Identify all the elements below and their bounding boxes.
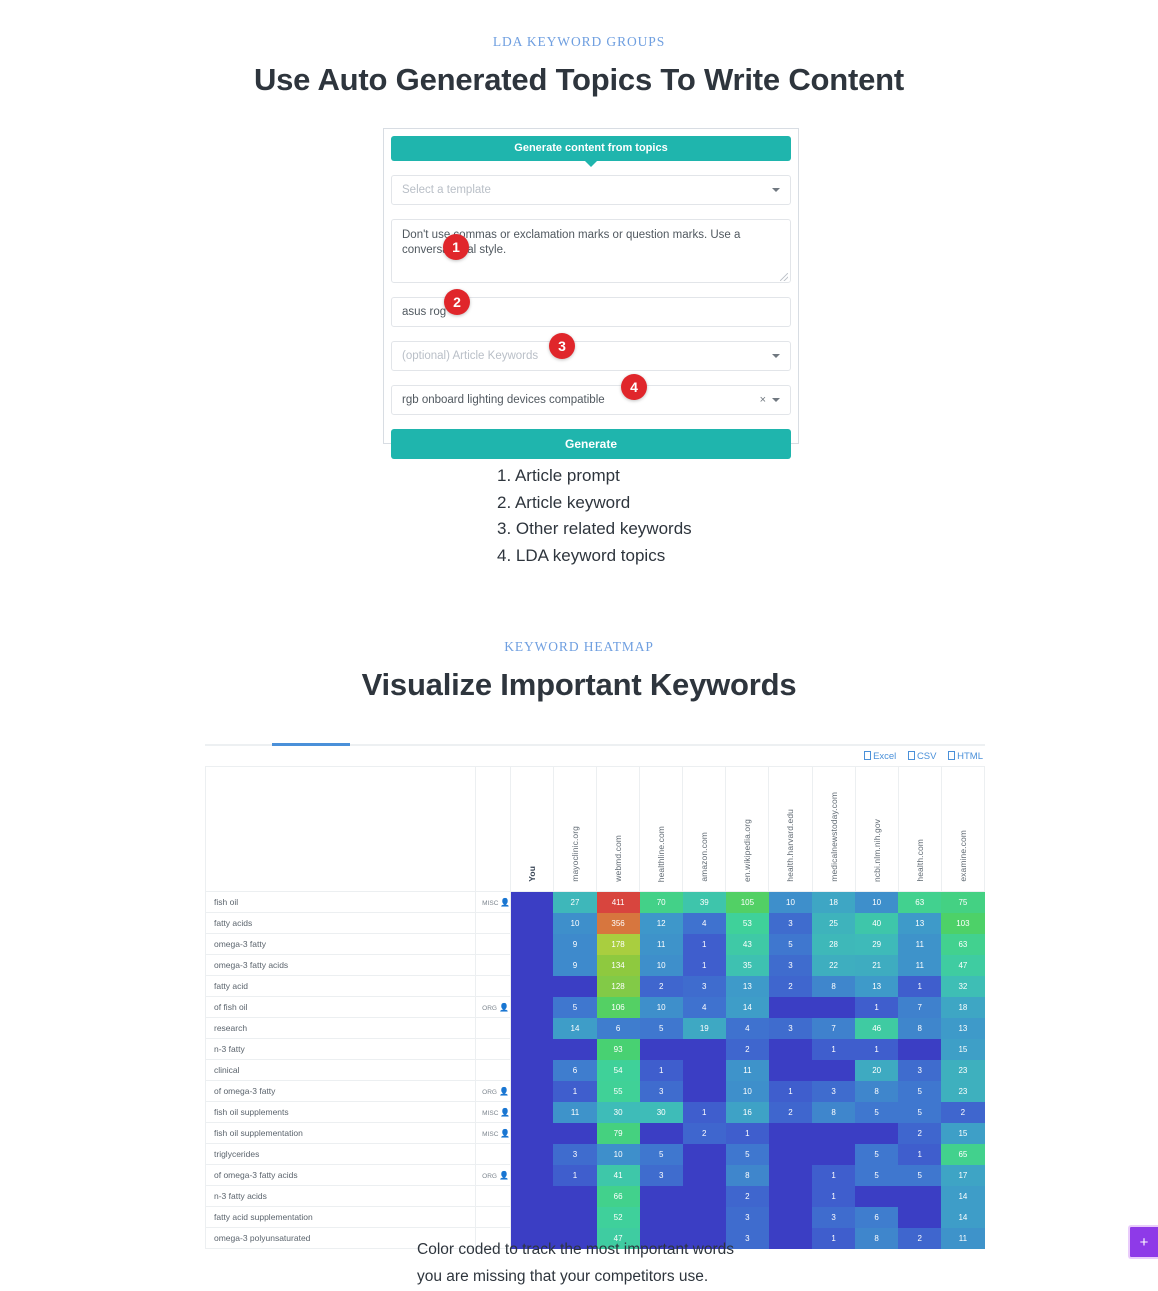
heatmap-cell[interactable]: 11 [726,1060,769,1081]
heatmap-cell[interactable]: 2 [898,1228,941,1249]
heatmap-cell[interactable] [640,1186,683,1207]
heatmap-cell[interactable]: 15 [941,1039,984,1060]
heatmap-cell[interactable] [769,1207,812,1228]
heatmap-row-keyword: of omega-3 fatty [206,1081,476,1102]
heatmap-cell[interactable] [812,1144,855,1165]
card-header: Generate content from topics [391,136,791,161]
export-excel-label: Excel [873,751,896,762]
heatmap-cell[interactable] [640,1207,683,1228]
heatmap-cell[interactable]: 63 [898,892,941,913]
heatmap-row-keyword: omega-3 fatty acids [206,955,476,976]
heatmap-cell[interactable]: 11 [941,1228,984,1249]
heatmap-cell[interactable]: 4 [683,913,726,934]
table-row[interactable]: n-3 fatty acids662114 [206,1186,985,1207]
heatmap-cell[interactable]: 14 [941,1207,984,1228]
heatmap-row-tag [476,1018,511,1039]
heatmap-cell[interactable]: 9 [553,955,596,976]
table-row[interactable]: research14651943746813 [206,1018,985,1039]
heatmap-row-keyword: research [206,1018,476,1039]
list-item: 3. Other related keywords [497,516,692,543]
keyword-heatmap-table: Youmayoclinic.orgwebmd.comhealthline.com… [205,766,985,1249]
heatmap-cell[interactable]: 39 [683,892,726,913]
heatmap-row-keyword: n-3 fatty [206,1039,476,1060]
heatmap-cell[interactable]: 11 [898,955,941,976]
heatmap-cell[interactable]: 35 [726,955,769,976]
heatmap-cell[interactable] [510,955,553,976]
heatmap-cell[interactable]: 54 [597,1060,640,1081]
lda-topic-value: rgb onboard lighting devices compatible [402,394,605,406]
generate-content-card: Generate content from topics Select a te… [383,128,799,444]
heatmap-column-label: health.com [915,839,925,882]
heatmap-cell[interactable] [769,1060,812,1081]
heatmap-cell[interactable]: 2 [898,1123,941,1144]
heatmap-cell[interactable]: 13 [726,976,769,997]
heatmap-cell[interactable]: 8 [855,1081,898,1102]
add-floating-button[interactable]: + [1128,1225,1158,1259]
heatmap-cell[interactable]: 6 [553,1060,596,1081]
heatmap-column-header[interactable]: webmd.com [597,767,640,892]
heatmap-row-tag: MISC👤 [476,1102,511,1123]
heatmap-cell[interactable] [510,913,553,934]
heatmap-cell[interactable]: 3 [769,955,812,976]
heatmap-cell[interactable]: 10 [553,913,596,934]
heatmap-cell[interactable] [640,1123,683,1144]
heatmap-cell[interactable]: 8 [726,1165,769,1186]
heatmap-cell[interactable]: 2 [769,1102,812,1123]
heatmap-cell[interactable]: 11 [553,1102,596,1123]
heatmap-cell[interactable]: 2 [640,976,683,997]
heatmap-cell[interactable]: 1 [640,1060,683,1081]
annotation-badge-2: 2 [444,289,470,315]
heatmap-cell[interactable]: 13 [855,976,898,997]
heatmap-cell[interactable]: 1 [683,1102,726,1123]
heatmap-cell[interactable]: 14 [553,1018,596,1039]
heatmap-row-tag [476,1060,511,1081]
heatmap-cell[interactable]: 3 [640,1165,683,1186]
topics-section-header: LDA KEYWORD GROUPS Use Auto Generated To… [0,34,1158,98]
heatmap-cell[interactable] [510,934,553,955]
heatmap-cell[interactable] [683,1144,726,1165]
heatmap-cell[interactable]: 2 [726,1039,769,1060]
heatmap-cell[interactable]: 18 [812,892,855,913]
heatmap-column-label: webmd.com [613,835,623,882]
heatmap-cell[interactable] [510,892,553,913]
heatmap-column-header[interactable]: medicalnewstoday.com [812,767,855,892]
person-icon: 👤 [499,1003,509,1012]
heatmap-cell[interactable]: 11 [898,934,941,955]
heatmap-cell[interactable] [510,1123,553,1144]
heatmap-cell[interactable]: 10 [726,1081,769,1102]
keyword-heatmap-panel: Excel CSV HTML Youmayoclinic.orgwebmd.co… [205,732,985,1249]
heatmap-cell[interactable] [510,1039,553,1060]
heatmap-row-tag: ORG👤 [476,1081,511,1102]
heatmap-cell[interactable]: 3 [769,1018,812,1039]
heatmap-cell[interactable]: 8 [812,976,855,997]
heatmap-cell[interactable] [510,1165,553,1186]
export-html-label: HTML [957,751,983,762]
heatmap-cell[interactable]: 10 [855,892,898,913]
heatmap-cell[interactable]: 5 [553,997,596,1018]
annotation-legend-list: 1. Article prompt 2. Article keyword 3. … [497,463,692,569]
heatmap-cell[interactable]: 29 [855,934,898,955]
heatmap-cell[interactable]: 2 [769,976,812,997]
table-row[interactable]: omega-3 fatty917811143528291163 [206,934,985,955]
article-keywords-select[interactable]: (optional) Article Keywords [391,341,791,371]
heatmap-row-tag [476,955,511,976]
heatmap-cell[interactable]: 93 [597,1039,640,1060]
heatmap-cell[interactable]: 356 [597,913,640,934]
heatmap-column-header[interactable]: health.harvard.edu [769,767,812,892]
heatmap-cell[interactable] [510,976,553,997]
export-html-button[interactable]: HTML [948,751,983,762]
heatmap-column-header[interactable]: en.wikipedia.org [726,767,769,892]
heatmap-cell[interactable] [510,1081,553,1102]
heatmap-cell[interactable]: 65 [941,1144,984,1165]
heatmap-cell[interactable]: 5 [640,1018,683,1039]
heatmap-row-tag: ORG👤 [476,997,511,1018]
heatmap-cell[interactable]: 10 [769,892,812,913]
heatmap-row-keyword: fish oil supplementation [206,1123,476,1144]
heatmap-cell[interactable]: 79 [597,1123,640,1144]
table-row[interactable]: clinical65411120323 [206,1060,985,1081]
heatmap-cell[interactable]: 5 [640,1144,683,1165]
heatmap-cell[interactable]: 66 [597,1186,640,1207]
heatmap-cell[interactable]: 2 [726,1186,769,1207]
person-icon: 👤 [500,1129,510,1138]
heatmap-cell[interactable] [510,1060,553,1081]
heatmap-cell[interactable]: 8 [898,1018,941,1039]
heatmap-cell[interactable]: 106 [597,997,640,1018]
heatmap-cell[interactable] [898,1186,941,1207]
heatmap-cell[interactable]: 1 [683,955,726,976]
heatmap-cell[interactable]: 6 [855,1207,898,1228]
close-icon[interactable]: × [760,394,766,406]
heatmap-cell[interactable]: 23 [941,1060,984,1081]
heatmap-cell[interactable]: 5 [855,1102,898,1123]
heatmap-cell[interactable] [553,1123,596,1144]
heatmap-header-row: Youmayoclinic.orgwebmd.comhealthline.com… [206,767,985,892]
heatmap-cell[interactable]: 5 [726,1144,769,1165]
heatmap-cell[interactable]: 40 [855,913,898,934]
heatmap-cell[interactable]: 10 [597,1144,640,1165]
heatmap-cell[interactable]: 1 [812,1228,855,1249]
heatmap-cell[interactable]: 41 [597,1165,640,1186]
heatmap-cell[interactable]: 8 [812,1102,855,1123]
heatmap-cell[interactable]: 2 [941,1102,984,1123]
export-csv-button[interactable]: CSV [908,751,937,762]
heatmap-row-keyword: fatty acid supplementation [206,1207,476,1228]
heatmap-cell[interactable]: 15 [941,1123,984,1144]
table-row[interactable]: triglycerides310555165 [206,1144,985,1165]
heatmap-cell[interactable] [683,1060,726,1081]
heatmap-cell[interactable] [683,1207,726,1228]
heatmap-cell[interactable]: 13 [941,1018,984,1039]
heatmap-row-tag [476,934,511,955]
heatmap-cell[interactable]: 1 [553,1081,596,1102]
heatmap-cell[interactable]: 27 [553,892,596,913]
heatmap-cell[interactable]: 25 [812,913,855,934]
heatmap-cell[interactable]: 3 [553,1144,596,1165]
annotation-badge-4: 4 [621,374,647,400]
heatmap-cell[interactable]: 11 [640,934,683,955]
article-keyword-value: asus rog [402,306,446,318]
heatmap-cell[interactable]: 53 [726,913,769,934]
table-row[interactable]: fatty acid supplementation5233614 [206,1207,985,1228]
heatmap-cell[interactable]: 63 [941,934,984,955]
heatmap-title: Visualize Important Keywords [0,667,1158,703]
heatmap-cell[interactable]: 6 [597,1018,640,1039]
table-row[interactable]: fish oil supplementationMISC👤7921215 [206,1123,985,1144]
heatmap-cell[interactable]: 178 [597,934,640,955]
file-icon [948,751,955,760]
heatmap-cell[interactable] [510,1186,553,1207]
heatmap-row-tag: MISC👤 [476,892,511,913]
heatmap-cell[interactable] [812,1123,855,1144]
heatmap-cell[interactable]: 5 [898,1081,941,1102]
heatmap-row-keyword: clinical [206,1060,476,1081]
heatmap-cell[interactable] [769,1186,812,1207]
heatmap-row-keyword: fish oil [206,892,476,913]
resize-handle-icon[interactable] [780,273,788,281]
heatmap-cell[interactable] [640,1039,683,1060]
heatmap-cell[interactable]: 3 [726,1207,769,1228]
heatmap-cell[interactable] [683,1081,726,1102]
heatmap-cell[interactable]: 30 [640,1102,683,1123]
heatmap-cell[interactable]: 1 [726,1123,769,1144]
heatmap-cell[interactable]: 1 [683,934,726,955]
heatmap-cell[interactable]: 1 [769,1081,812,1102]
heatmap-cell[interactable] [855,1186,898,1207]
heatmap-cell[interactable]: 5 [855,1144,898,1165]
heatmap-cell[interactable]: 70 [640,892,683,913]
tab-active-indicator[interactable] [272,743,350,746]
heatmap-cell[interactable]: 1 [855,997,898,1018]
heatmap-column-label: mayoclinic.org [570,826,580,882]
table-row[interactable]: of fish oilORG👤5106104141718 [206,997,985,1018]
heatmap-cell[interactable]: 1 [898,976,941,997]
heatmap-cell[interactable] [553,1186,596,1207]
heatmap-tag-corner-cell [476,767,511,892]
heatmap-cell[interactable]: 3 [812,1207,855,1228]
heatmap-cell[interactable]: 2 [683,1123,726,1144]
heatmap-row-keyword: fish oil supplements [206,1102,476,1123]
heatmap-row-tag [476,913,511,934]
file-icon [864,751,871,760]
heatmap-cell[interactable]: 4 [726,1018,769,1039]
export-toolbar: Excel CSV HTML [205,746,985,766]
heatmap-column-label: You [527,866,537,882]
entity-tag-label: MISC [482,1110,498,1117]
heatmap-cell[interactable]: 411 [597,892,640,913]
heatmap-cell[interactable] [855,1123,898,1144]
caption-line-1: Color coded to track the most important … [417,1236,734,1263]
heatmap-cell[interactable] [898,1039,941,1060]
heatmap-cell[interactable]: 1 [898,1144,941,1165]
heatmap-cell[interactable]: 20 [855,1060,898,1081]
heatmap-cell[interactable]: 7 [898,997,941,1018]
heatmap-cell[interactable]: 9 [553,934,596,955]
heatmap-cell[interactable]: 46 [855,1018,898,1039]
heatmap-cell[interactable] [769,1228,812,1249]
heatmap-cell[interactable]: 10 [640,997,683,1018]
heatmap-cell[interactable]: 105 [726,892,769,913]
heatmap-cell[interactable]: 103 [941,913,984,934]
heatmap-column-header[interactable]: ncbi.nlm.nih.gov [855,767,898,892]
heatmap-cell[interactable]: 3 [812,1081,855,1102]
heatmap-cell[interactable] [683,1186,726,1207]
heatmap-cell[interactable]: 75 [941,892,984,913]
heatmap-cell[interactable]: 1 [812,1186,855,1207]
lda-topic-select[interactable]: rgb onboard lighting devices compatible … [391,385,791,415]
heatmap-cell[interactable]: 32 [941,976,984,997]
table-row[interactable]: fish oil supplementsMISC👤11303011628552 [206,1102,985,1123]
heatmap-row-tag: ORG👤 [476,1165,511,1186]
generate-button[interactable]: Generate [391,429,791,459]
heatmap-column-label: medicalnewstoday.com [829,792,839,882]
heatmap-body: fish oilMISC👤2741170391051018106375fatty… [206,892,985,1249]
heatmap-cell[interactable] [769,1165,812,1186]
heatmap-cell[interactable]: 18 [941,997,984,1018]
heatmap-cell[interactable]: 8 [855,1228,898,1249]
table-row[interactable]: n-3 fatty9321115 [206,1039,985,1060]
heatmap-cell[interactable] [553,976,596,997]
export-excel-button[interactable]: Excel [864,751,896,762]
heatmap-cell[interactable]: 28 [812,934,855,955]
heatmap-row-keyword: fatty acids [206,913,476,934]
table-row[interactable]: fatty acids10356124533254013103 [206,913,985,934]
heatmap-cell[interactable] [769,1123,812,1144]
heatmap-cell[interactable]: 3 [769,913,812,934]
heatmap-cell[interactable] [683,1039,726,1060]
heatmap-cell[interactable]: 12 [640,913,683,934]
heatmap-row-keyword: fatty acid [206,976,476,997]
heatmap-cell[interactable] [898,1207,941,1228]
heatmap-column-header[interactable]: health.com [898,767,941,892]
list-item: 1. Article prompt [497,463,692,490]
heatmap-cell[interactable]: 30 [597,1102,640,1123]
heatmap-column-header[interactable]: amazon.com [683,767,726,892]
topics-eyebrow: LDA KEYWORD GROUPS [0,34,1158,50]
heatmap-column-header[interactable]: You [510,767,553,892]
list-item: 2. Article keyword [497,490,692,517]
heatmap-cell[interactable] [510,1207,553,1228]
heatmap-row-keyword: n-3 fatty acids [206,1186,476,1207]
heatmap-cell[interactable]: 1 [855,1039,898,1060]
heatmap-cell[interactable]: 52 [597,1207,640,1228]
heatmap-cell[interactable]: 3 [683,976,726,997]
heatmap-cell[interactable]: 43 [726,934,769,955]
heatmap-corner-cell [206,767,476,892]
heatmap-section-header: KEYWORD HEATMAP Visualize Important Keyw… [0,639,1158,703]
person-icon: 👤 [499,1171,509,1180]
heatmap-column-header[interactable]: mayoclinic.org [553,767,596,892]
article-keywords-label: (optional) Article Keywords [402,350,538,362]
heatmap-cell[interactable]: 1 [812,1039,855,1060]
heatmap-cell[interactable]: 5 [855,1165,898,1186]
heatmap-cell[interactable]: 5 [898,1165,941,1186]
heatmap-cell[interactable]: 14 [941,1186,984,1207]
heatmap-cell[interactable]: 1 [812,1165,855,1186]
caption-line-2: you are missing that your competitors us… [417,1263,734,1290]
table-row[interactable]: of omega-3 fatty acidsORG👤1413815517 [206,1165,985,1186]
heatmap-column-header[interactable]: examine.com [941,767,984,892]
heatmap-cell[interactable] [510,1102,553,1123]
entity-tag-label: MISC [482,1131,498,1138]
list-item: 4. LDA keyword topics [497,543,692,570]
heatmap-cell[interactable] [510,997,553,1018]
heatmap-cell[interactable]: 7 [812,1018,855,1039]
heatmap-cell[interactable]: 55 [597,1081,640,1102]
heatmap-row-keyword: triglycerides [206,1144,476,1165]
heatmap-row-tag [476,1186,511,1207]
annotation-badge-3: 3 [549,333,575,359]
heatmap-cell[interactable] [812,997,855,1018]
heatmap-tabbar[interactable] [205,732,985,746]
heatmap-cell[interactable]: 17 [941,1165,984,1186]
template-select[interactable]: Select a template [391,175,791,205]
heatmap-cell[interactable] [510,1018,553,1039]
export-csv-label: CSV [917,751,937,762]
heatmap-cell[interactable]: 23 [941,1081,984,1102]
heatmap-caption: Color coded to track the most important … [417,1236,734,1290]
topics-title: Use Auto Generated Topics To Write Conte… [0,62,1158,98]
heatmap-cell[interactable] [553,1207,596,1228]
chevron-down-icon [772,354,780,358]
heatmap-cell[interactable]: 13 [898,913,941,934]
heatmap-cell[interactable] [510,1144,553,1165]
heatmap-cell[interactable]: 10 [640,955,683,976]
heatmap-cell[interactable] [769,997,812,1018]
heatmap-cell[interactable]: 3 [898,1060,941,1081]
chevron-down-icon [772,188,780,192]
heatmap-cell[interactable] [683,1165,726,1186]
heatmap-row-tag [476,1039,511,1060]
table-row[interactable]: omega-3 fatty acids913410135322211147 [206,955,985,976]
heatmap-row-keyword: omega-3 fatty [206,934,476,955]
heatmap-cell[interactable]: 5 [769,934,812,955]
heatmap-cell[interactable]: 21 [855,955,898,976]
heatmap-cell[interactable] [769,1039,812,1060]
heatmap-column-label: examine.com [958,830,968,882]
heatmap-cell[interactable] [769,1144,812,1165]
table-row[interactable]: of omega-3 fattyORG👤155310138523 [206,1081,985,1102]
heatmap-row-tag [476,1207,511,1228]
heatmap-column-label: ncbi.nlm.nih.gov [872,819,882,882]
heatmap-cell[interactable]: 19 [683,1018,726,1039]
heatmap-cell[interactable]: 5 [898,1102,941,1123]
heatmap-cell[interactable]: 47 [941,955,984,976]
heatmap-column-label: health.harvard.edu [785,809,795,882]
heatmap-cell[interactable]: 14 [726,997,769,1018]
heatmap-cell[interactable]: 22 [812,955,855,976]
heatmap-cell[interactable]: 128 [597,976,640,997]
heatmap-cell[interactable] [812,1060,855,1081]
heatmap-cell[interactable]: 4 [683,997,726,1018]
entity-tag-label: ORG [482,1089,497,1096]
heatmap-cell[interactable]: 3 [640,1081,683,1102]
heatmap-cell[interactable] [553,1039,596,1060]
heatmap-row-tag [476,976,511,997]
heatmap-cell[interactable]: 16 [726,1102,769,1123]
heatmap-cell[interactable]: 1 [553,1165,596,1186]
heatmap-row-tag [476,1144,511,1165]
person-icon: 👤 [500,898,510,907]
heatmap-cell[interactable]: 134 [597,955,640,976]
entity-tag-label: MISC [482,900,498,907]
heatmap-column-header[interactable]: healthline.com [640,767,683,892]
table-row[interactable]: fish oilMISC👤2741170391051018106375 [206,892,985,913]
table-row[interactable]: fatty acid12823132813132 [206,976,985,997]
